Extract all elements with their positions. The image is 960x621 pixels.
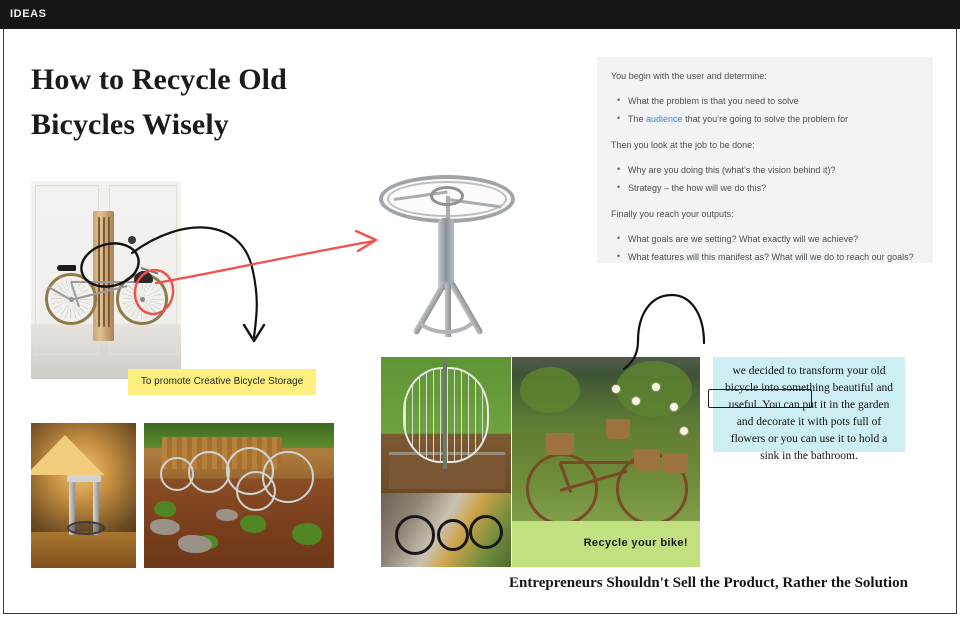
wheel-rim-trellis bbox=[188, 451, 230, 493]
shrub bbox=[154, 501, 176, 517]
bullet-suffix: that you’re going to solve the problem f… bbox=[683, 114, 849, 124]
list-item: What the problem is that you need to sol… bbox=[628, 94, 919, 109]
fork-crown bbox=[67, 475, 101, 482]
photo-chrome-bicycle-table bbox=[372, 162, 522, 337]
list-item: Why are you doing this (what’s the visio… bbox=[628, 163, 919, 178]
flower-pot bbox=[546, 433, 574, 455]
rock bbox=[216, 509, 238, 521]
shrub bbox=[292, 523, 322, 545]
black-arrow-from-callout bbox=[638, 295, 704, 343]
bicycle-top-tube bbox=[71, 281, 143, 283]
flower-pot bbox=[662, 453, 688, 473]
info-intro: You begin with the user and determine: bbox=[611, 69, 919, 84]
page-title: How to Recycle Old Bicycles Wisely bbox=[31, 57, 361, 147]
blue-callout-note[interactable]: we decided to transform your old bicycle… bbox=[713, 357, 905, 452]
rock bbox=[150, 519, 180, 535]
wooden-tabletop bbox=[31, 532, 136, 568]
info-bullets-job: Why are you doing this (what’s the visio… bbox=[611, 163, 919, 196]
lamp-shade bbox=[31, 435, 104, 475]
wheel-rim-trellis bbox=[236, 471, 276, 511]
table-base-arc bbox=[408, 274, 484, 334]
rack-slot bbox=[103, 217, 105, 327]
support-pole bbox=[443, 359, 447, 469]
info-panel: You begin with the user and determine: W… bbox=[597, 57, 933, 263]
photo-wheel-trellis-bed bbox=[381, 357, 511, 493]
photo-bicycle-fork-lamp bbox=[31, 423, 136, 568]
white-flower bbox=[612, 385, 620, 393]
white-flower bbox=[632, 397, 640, 405]
info-outro: Finally you reach your outputs: bbox=[611, 207, 919, 222]
photo-wall-mounted-bicycle bbox=[31, 181, 181, 379]
slide-canvas: How to Recycle Old Bicycles Wisely You b… bbox=[3, 29, 957, 614]
wall-hook bbox=[128, 236, 136, 244]
bicycle-wheel bbox=[437, 519, 469, 551]
flower-pot bbox=[634, 449, 660, 471]
white-flower bbox=[680, 427, 688, 435]
bicycle-wheel bbox=[469, 515, 503, 549]
list-item: The audience that you’re going to solve … bbox=[628, 112, 919, 127]
flower-pot bbox=[606, 419, 630, 439]
audience-link[interactable]: audience bbox=[646, 114, 683, 124]
info-bullets-outputs: What goals are we setting? What exactly … bbox=[611, 232, 919, 265]
shrub bbox=[240, 515, 266, 533]
info-bullets-problem: What the problem is that you need to sol… bbox=[611, 94, 919, 127]
list-item: What goals are we setting? What exactly … bbox=[628, 232, 919, 247]
crank-ring-base bbox=[67, 521, 105, 535]
photo-bicycle-parking-rack bbox=[381, 493, 511, 567]
bicycle-saddle bbox=[57, 265, 76, 271]
app-top-bar: IDEAS bbox=[0, 0, 960, 29]
footer-tagline: Entrepreneurs Shouldn't Sell the Product… bbox=[509, 575, 908, 592]
white-flower bbox=[652, 383, 660, 391]
list-item: What features will this manifest as? Wha… bbox=[628, 250, 919, 265]
white-flower bbox=[670, 403, 678, 411]
bicycle-wheel bbox=[395, 515, 435, 555]
rock bbox=[178, 535, 212, 553]
yellow-sticky-note[interactable]: To promote Creative Bicycle Storage bbox=[128, 369, 316, 395]
list-item: Strategy – the how will we do this? bbox=[628, 181, 919, 196]
red-arrow-annotation bbox=[156, 241, 374, 283]
foliage bbox=[520, 367, 580, 413]
black-arrowhead bbox=[244, 325, 264, 341]
green-caption-text: Recycle your bike! bbox=[584, 537, 688, 549]
green-caption-band: Recycle your bike! bbox=[512, 521, 700, 567]
table-chainring bbox=[430, 186, 464, 206]
wheel-spokes bbox=[122, 279, 162, 319]
bullet-prefix: The bbox=[628, 114, 646, 124]
app-title: IDEAS bbox=[10, 8, 47, 20]
rack-slot bbox=[108, 217, 110, 327]
rack-slot bbox=[98, 217, 100, 327]
bicycle-top-tube bbox=[560, 461, 640, 464]
photo-garden-wheel-trellises bbox=[144, 423, 334, 568]
bicycle-helmet bbox=[134, 271, 153, 283]
info-mid: Then you look at the job to be done: bbox=[611, 138, 919, 153]
